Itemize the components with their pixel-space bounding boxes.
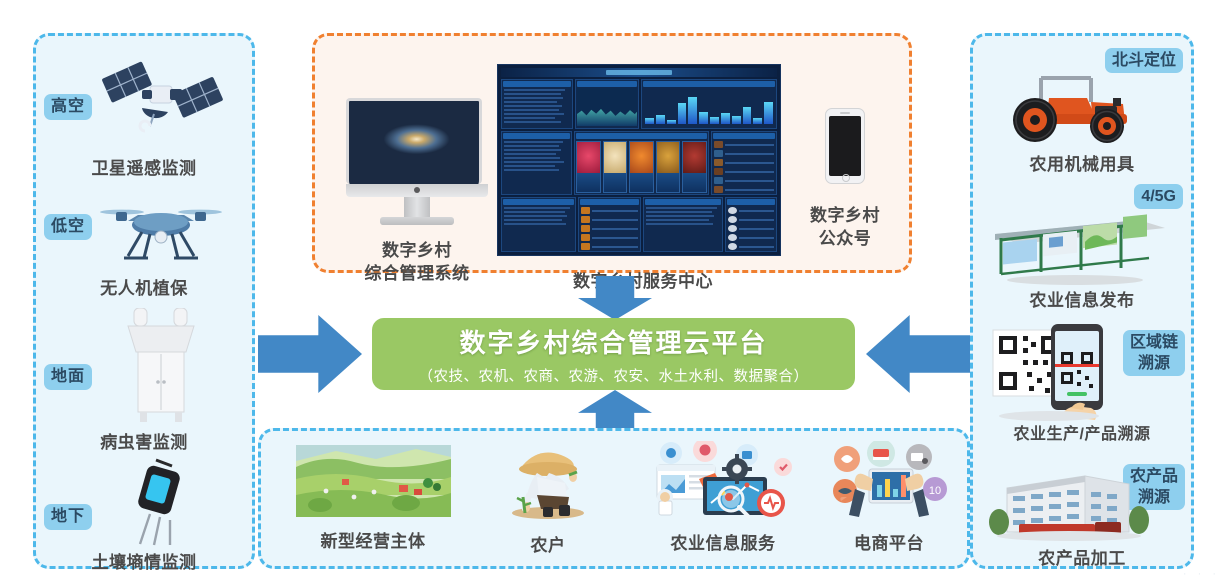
info-service-icon (643, 441, 803, 521)
dashboard-screen-icon (497, 64, 781, 256)
top-caption-line2: 综合管理系统 (335, 262, 499, 285)
top-caption-line1: 数字乡村 (335, 239, 499, 262)
arrow-left-icon (866, 315, 970, 393)
badge-blockchain-trace-line2: 溯源 (1130, 353, 1178, 374)
monitor-stand (404, 197, 430, 217)
drone-icon (98, 196, 224, 268)
left-item-underground[interactable]: 地下 土壤墒情监测 (36, 456, 252, 572)
svg-text:10: 10 (929, 485, 941, 497)
bottom-item-ecommerce[interactable]: 10 电商平台 (817, 441, 961, 554)
monitor-screen (346, 98, 482, 184)
right-caption-processing: 农产品加工 (973, 544, 1191, 569)
right-item-info-billboard[interactable]: 4/5G (973, 184, 1191, 316)
dashboard-widget-record-1 (501, 197, 576, 252)
right-item-machinery[interactable]: 北斗定位 农用机械用具 (973, 44, 1191, 184)
left-panel-sensing-layers: 高空 (33, 33, 255, 569)
bottom-caption-new-entities: 新型经营主体 (285, 527, 461, 552)
top-item-public-account[interactable]: 数字乡村 公众号 (791, 108, 899, 250)
badge-blockchain-trace: 区域链 溯源 (1123, 330, 1185, 376)
bar-chart (645, 88, 773, 124)
dashboard-widget-table (501, 79, 573, 129)
factory-building-icon (989, 462, 1149, 542)
center-platform-box[interactable]: 数字乡村综合管理云平台 （农技、农机、农商、农游、农安、水土水利、数据聚合） (372, 318, 855, 390)
left-item-high-altitude[interactable]: 高空 (36, 54, 252, 184)
arrow-right-icon (258, 315, 362, 393)
top-item-service-center[interactable]: 数字乡村服务中心 (497, 64, 789, 293)
top-item-management-system[interactable]: 数字乡村 综合管理系统 (335, 98, 499, 285)
ecommerce-tablet-icon: 10 (825, 441, 953, 521)
right-panel-applications: 北斗定位 农用机械用具 4/5G (970, 33, 1194, 569)
right-caption-billboard: 农业信息发布 (973, 286, 1191, 311)
dashboard-widget-area-chart (575, 79, 639, 129)
desktop-monitor-icon (346, 98, 488, 225)
area-chart (577, 88, 637, 126)
dashboard-row-3 (501, 197, 777, 252)
dashboard-widget-feed (711, 131, 777, 195)
qrcode-scan-phone-icon (989, 322, 1129, 422)
dashboard-widget-record-2 (578, 197, 641, 252)
left-caption-soil: 土壤墒情监测 (36, 548, 252, 573)
badge-4-5g: 4/5G (1134, 184, 1183, 209)
pest-monitor-station-icon (112, 308, 216, 430)
left-item-ground[interactable]: 地面 病虫害监测 (36, 308, 252, 456)
bottom-caption-farmer: 农户 (473, 531, 623, 556)
dashboard-widget-bar-chart (641, 79, 777, 129)
badge-high-altitude: 高空 (44, 94, 92, 120)
top-panel-platform-entrances: 数字乡村 综合管理系统 (312, 33, 912, 273)
badge-underground: 地下 (44, 504, 92, 530)
left-caption-satellite: 卫星遥感监测 (36, 154, 252, 179)
left-caption-pest: 病虫害监测 (36, 428, 252, 453)
page-title: 数字乡村综合管理云平台 (459, 323, 767, 360)
top-caption-phone-line2: 公众号 (791, 227, 899, 250)
dashboard-widget-products (574, 131, 709, 195)
bottom-caption-info-service: 农业信息服务 (633, 529, 813, 554)
left-caption-drone: 无人机植保 (36, 274, 252, 299)
right-item-traceability[interactable]: 区域链 溯源 (973, 318, 1191, 456)
right-item-processing[interactable]: 农产品 溯源 (973, 454, 1191, 572)
satellite-icon (96, 56, 226, 152)
monitor-chin (346, 184, 488, 197)
badge-ground: 地面 (44, 364, 92, 390)
information-billboard-icon (989, 210, 1169, 286)
farmer-icon (493, 443, 603, 519)
right-caption-machinery: 农用机械用具 (973, 150, 1191, 175)
terraced-fields-icon (296, 445, 451, 517)
center-subtitle: （农技、农机、农商、农游、农安、水土水利、数据聚合） (419, 365, 809, 386)
top-caption-service-center: 数字乡村服务中心 (497, 270, 789, 293)
bottom-item-new-entities[interactable]: 新型经营主体 (285, 445, 461, 552)
monitor-base (380, 217, 454, 225)
bottom-caption-ecommerce: 电商平台 (817, 529, 961, 554)
dashboard-widget-record-3 (643, 197, 723, 252)
dashboard-header (501, 68, 777, 77)
watermark: · · · (1183, 568, 1220, 580)
soil-moisture-sensor-icon (120, 458, 206, 546)
smartphone-icon (825, 108, 865, 184)
dashboard-widget-notices (725, 197, 778, 252)
top-caption-phone-line1: 数字乡村 (791, 204, 899, 227)
badge-low-altitude: 低空 (44, 214, 92, 240)
bottom-item-info-service[interactable]: 农业信息服务 (633, 441, 813, 554)
right-caption-traceability: 农业生产/产品溯源 (973, 420, 1191, 444)
dashboard-widget-table-2 (501, 131, 572, 195)
left-item-low-altitude[interactable]: 低空 无人机植保 (36, 186, 252, 304)
dashboard-row-1 (501, 79, 777, 129)
bottom-panel-users: 新型经营主体 (258, 428, 970, 569)
infographic-root: 高空 (0, 0, 1226, 582)
bottom-item-farmer[interactable]: 农户 (473, 443, 623, 556)
tractor-icon (995, 68, 1145, 146)
badge-blockchain-trace-line1: 区域链 (1130, 332, 1178, 353)
dashboard-row-2 (501, 131, 777, 195)
